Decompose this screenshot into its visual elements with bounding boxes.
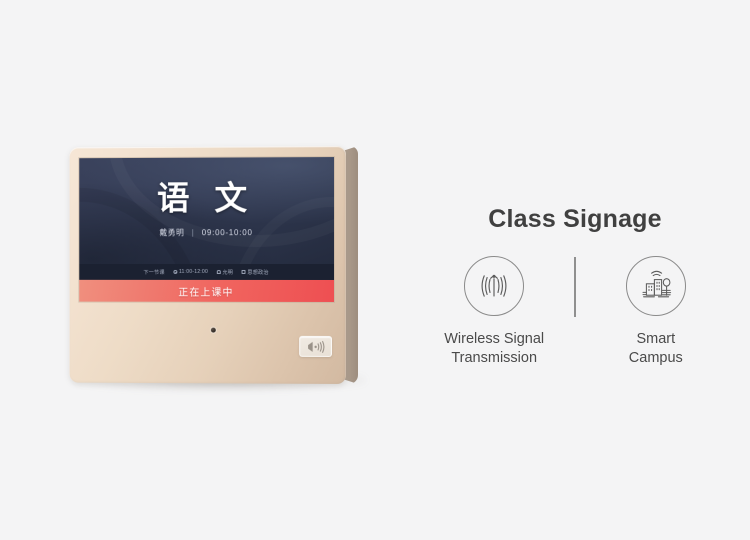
feature-campus-label-line1: Smart <box>629 330 683 349</box>
next-class-time-cell: 11:00-12:00 <box>174 269 209 275</box>
person-icon <box>217 270 221 273</box>
feature-divider <box>574 257 576 317</box>
class-signage-device: 语 文 戴勇明 | 09:00-10:00 下一节课 11:00-12:00 <box>66 146 358 384</box>
next-class-info-bar: 下一节课 11:00-12:00 允明 思想政治 <box>79 264 334 280</box>
next-class-teacher-cell: 允明 <box>217 268 233 275</box>
sensor-dot-icon <box>211 328 216 333</box>
current-class-time: 09:00-10:00 <box>202 228 253 237</box>
feature-list: Wireless Signal Transmission <box>400 256 750 367</box>
next-class-label-cell: 下一节课 <box>143 268 164 275</box>
next-class-time: 11:00-12:00 <box>179 269 208 275</box>
feature-wireless-label-line1: Wireless Signal <box>444 330 544 349</box>
next-class-subject: 思想政治 <box>247 268 268 275</box>
feature-smart-campus: Smart Campus <box>586 256 726 367</box>
current-subject-title: 语 文 <box>79 181 334 215</box>
wireless-signal-icon-circle <box>464 256 524 316</box>
next-class-subject-cell: 思想政治 <box>242 268 269 275</box>
device-bezel: 语 文 戴勇明 | 09:00-10:00 下一节课 11:00-12:00 <box>70 146 346 384</box>
current-class-meta: 戴勇明 | 09:00-10:00 <box>79 227 334 238</box>
smart-campus-icon <box>638 269 674 303</box>
next-class-teacher: 允明 <box>222 268 233 275</box>
feature-campus-label-line2: Campus <box>629 349 683 368</box>
feature-wireless-signal-transmission: Wireless Signal Transmission <box>424 256 564 367</box>
feature-campus-label: Smart Campus <box>629 330 683 367</box>
current-teacher-name: 戴勇明 <box>159 228 184 237</box>
feature-wireless-label-line2: Transmission <box>444 349 544 368</box>
next-class-label: 下一节课 <box>143 268 164 275</box>
meta-separator: | <box>192 228 194 237</box>
device-screen: 语 文 戴勇明 | 09:00-10:00 下一节课 11:00-12:00 <box>79 157 334 302</box>
page-title: Class Signage <box>400 205 750 234</box>
feature-wireless-label: Wireless Signal Transmission <box>444 330 544 367</box>
clock-icon <box>174 270 178 274</box>
info-panel: Class Signage <box>400 0 750 540</box>
speaker-icon <box>299 336 332 357</box>
book-icon <box>242 270 246 274</box>
class-status-bar: 正在上课中 <box>79 280 334 302</box>
screen-main-area: 语 文 戴勇明 | 09:00-10:00 <box>79 157 334 264</box>
device-illustration-area: 语 文 戴勇明 | 09:00-10:00 下一节课 11:00-12:00 <box>0 0 400 540</box>
wireless-signal-icon <box>477 269 511 303</box>
smart-campus-icon-circle <box>626 256 686 316</box>
